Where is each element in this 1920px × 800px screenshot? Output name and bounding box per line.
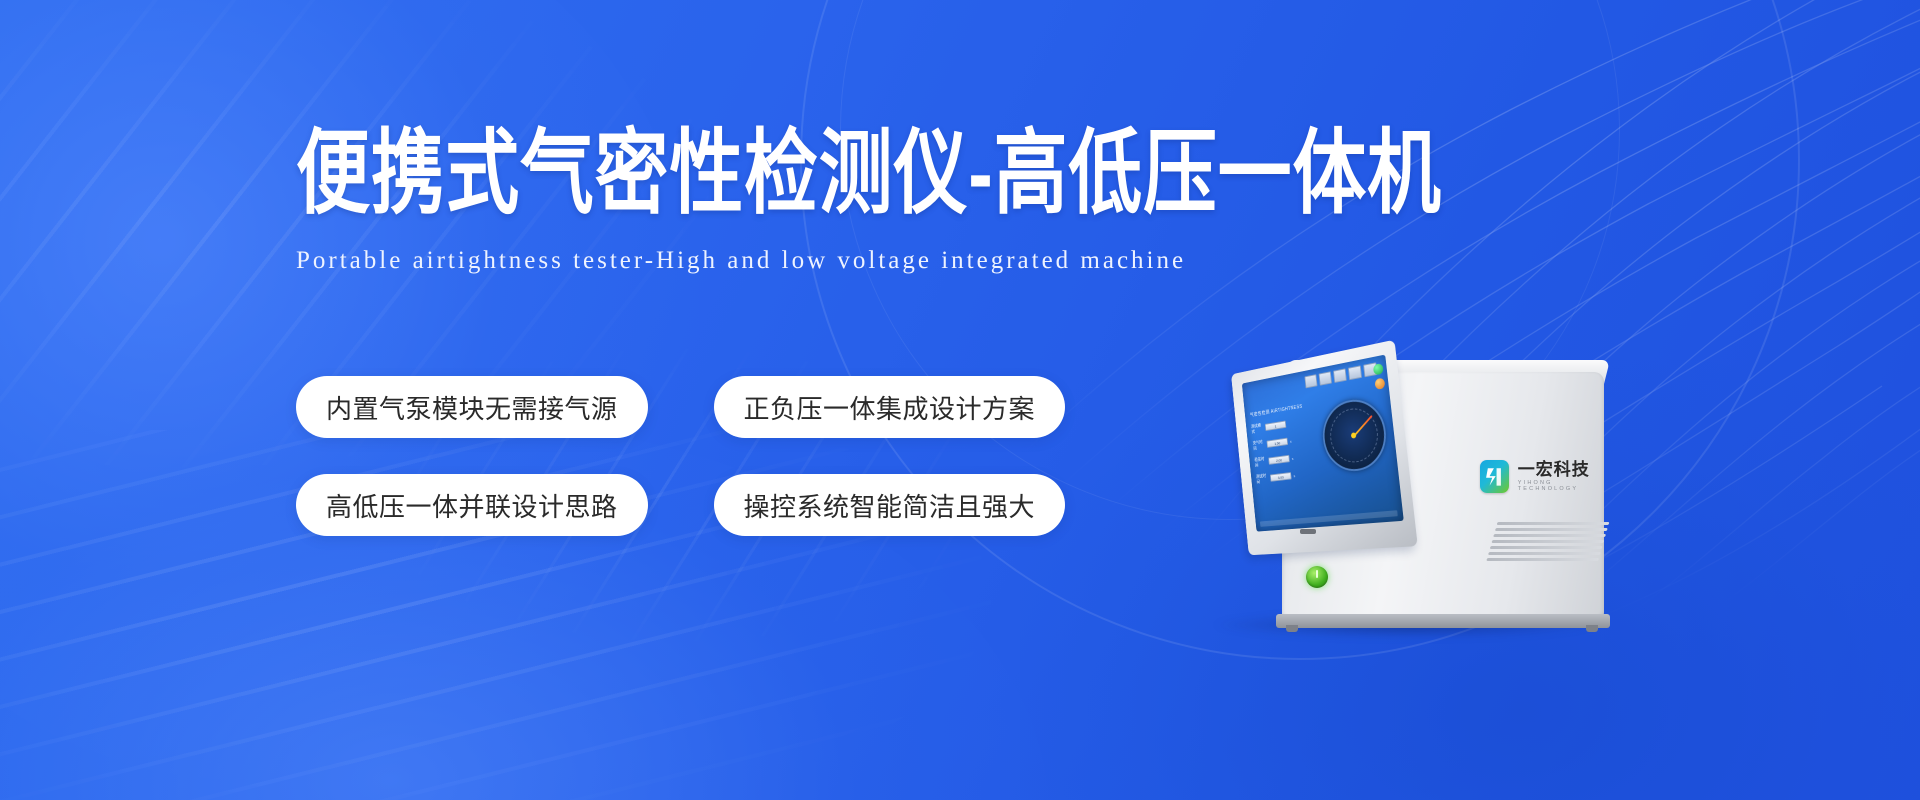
param-unit: s bbox=[1292, 456, 1294, 461]
device-foot bbox=[1286, 625, 1298, 632]
vent-slot bbox=[1493, 534, 1606, 537]
screen-parameter-list: 测试模式 1 充气时间 1.50 s 稳压时间 2.00 s bbox=[1251, 418, 1296, 485]
page-title: 便携式气密性检测仪-高低压一体机 bbox=[296, 128, 1596, 221]
status-ok-icon bbox=[1373, 363, 1384, 375]
brand-text: 一宏科技 YIHONG TECHNOLOGY bbox=[1518, 461, 1604, 492]
status-warn-icon bbox=[1374, 378, 1385, 390]
screen-heading: 气密性检测 AIRTIGHTNESS bbox=[1250, 403, 1303, 418]
brand-name-cn: 一宏科技 bbox=[1518, 461, 1604, 478]
feature-pill-label: 内置气泵模块无需接气源 bbox=[326, 389, 618, 426]
vent-slot bbox=[1486, 558, 1599, 561]
screen-status-icons bbox=[1373, 363, 1385, 390]
device-foot bbox=[1586, 625, 1598, 632]
feature-pill-list: 内置气泵模块无需接气源 正负压一体集成设计方案 高低压一体并联设计思路 操控系统… bbox=[296, 376, 1065, 536]
screen-parameter-row[interactable]: 测试时间 3.00 s bbox=[1256, 470, 1296, 485]
power-button[interactable] bbox=[1306, 566, 1328, 588]
promo-banner: 便携式气密性检测仪-高低压一体机 Portable airtightness t… bbox=[0, 0, 1920, 800]
feature-pill-label: 正负压一体集成设计方案 bbox=[744, 389, 1036, 426]
screen-menu-key[interactable] bbox=[1318, 371, 1331, 385]
feature-pill-1[interactable]: 内置气泵模块无需接气源 bbox=[296, 376, 648, 438]
param-unit: s bbox=[1293, 473, 1295, 478]
device-vent-grille bbox=[1483, 522, 1610, 574]
pressure-gauge-icon bbox=[1320, 395, 1390, 475]
feature-pill-label: 操控系统智能简洁且强大 bbox=[744, 487, 1036, 524]
device-brand-logo: 一宏科技 YIHONG TECHNOLOGY bbox=[1480, 460, 1604, 493]
vent-slot bbox=[1490, 546, 1603, 549]
param-value[interactable]: 2.00 bbox=[1268, 455, 1290, 465]
param-value[interactable]: 1.50 bbox=[1267, 438, 1289, 448]
screen-bottom-bar bbox=[1260, 510, 1398, 527]
param-label: 测试模式 bbox=[1251, 423, 1264, 435]
device-front-panel: 气密性检测 AIRTIGHTNESS 测试模式 1 充气时间 1.50 s bbox=[1231, 340, 1418, 556]
title-block: 便携式气密性检测仪-高低压一体机 Portable airtightness t… bbox=[296, 128, 1636, 276]
feature-pill-2[interactable]: 正负压一体集成设计方案 bbox=[714, 376, 1066, 438]
device-base bbox=[1276, 614, 1610, 628]
param-label: 测试时间 bbox=[1256, 473, 1269, 485]
device-port-slot bbox=[1300, 529, 1316, 534]
product-device-image: 一宏科技 YIHONG TECHNOLOGY bbox=[1190, 330, 1610, 630]
gauge-hub bbox=[1351, 432, 1357, 438]
param-value[interactable]: 1 bbox=[1265, 421, 1287, 432]
vent-slot bbox=[1495, 528, 1608, 531]
param-value[interactable]: 3.00 bbox=[1270, 472, 1292, 482]
param-label: 充气时间 bbox=[1253, 439, 1266, 451]
screen-menu-key[interactable] bbox=[1304, 374, 1317, 388]
screen-menu-key[interactable] bbox=[1333, 368, 1347, 383]
page-subtitle: Portable airtightness tester-High and lo… bbox=[296, 246, 1636, 276]
feature-pill-label: 高低压一体并联设计思路 bbox=[326, 487, 618, 524]
vent-slot bbox=[1488, 552, 1601, 555]
device-touchscreen[interactable]: 气密性检测 AIRTIGHTNESS 测试模式 1 充气时间 1.50 s bbox=[1242, 355, 1404, 532]
feature-pill-3[interactable]: 高低压一体并联设计思路 bbox=[296, 474, 648, 536]
feature-pill-4[interactable]: 操控系统智能简洁且强大 bbox=[714, 474, 1066, 536]
vent-slot bbox=[1497, 522, 1610, 525]
vent-slot bbox=[1491, 540, 1604, 543]
param-unit: s bbox=[1290, 438, 1292, 443]
brand-name-en: YIHONG TECHNOLOGY bbox=[1518, 481, 1604, 492]
screen-menu-keys[interactable] bbox=[1304, 362, 1377, 388]
screen-menu-key[interactable] bbox=[1348, 365, 1362, 380]
param-label: 稳压时间 bbox=[1254, 456, 1267, 468]
banner-content: 便携式气密性检测仪-高低压一体机 Portable airtightness t… bbox=[0, 0, 1920, 800]
screen-parameter-row[interactable]: 充气时间 1.50 s bbox=[1253, 435, 1292, 451]
screen-parameter-row[interactable]: 稳压时间 2.00 s bbox=[1254, 453, 1294, 469]
screen-parameter-row[interactable]: 测试模式 1 bbox=[1251, 418, 1290, 435]
yihong-logo-icon bbox=[1480, 460, 1509, 493]
